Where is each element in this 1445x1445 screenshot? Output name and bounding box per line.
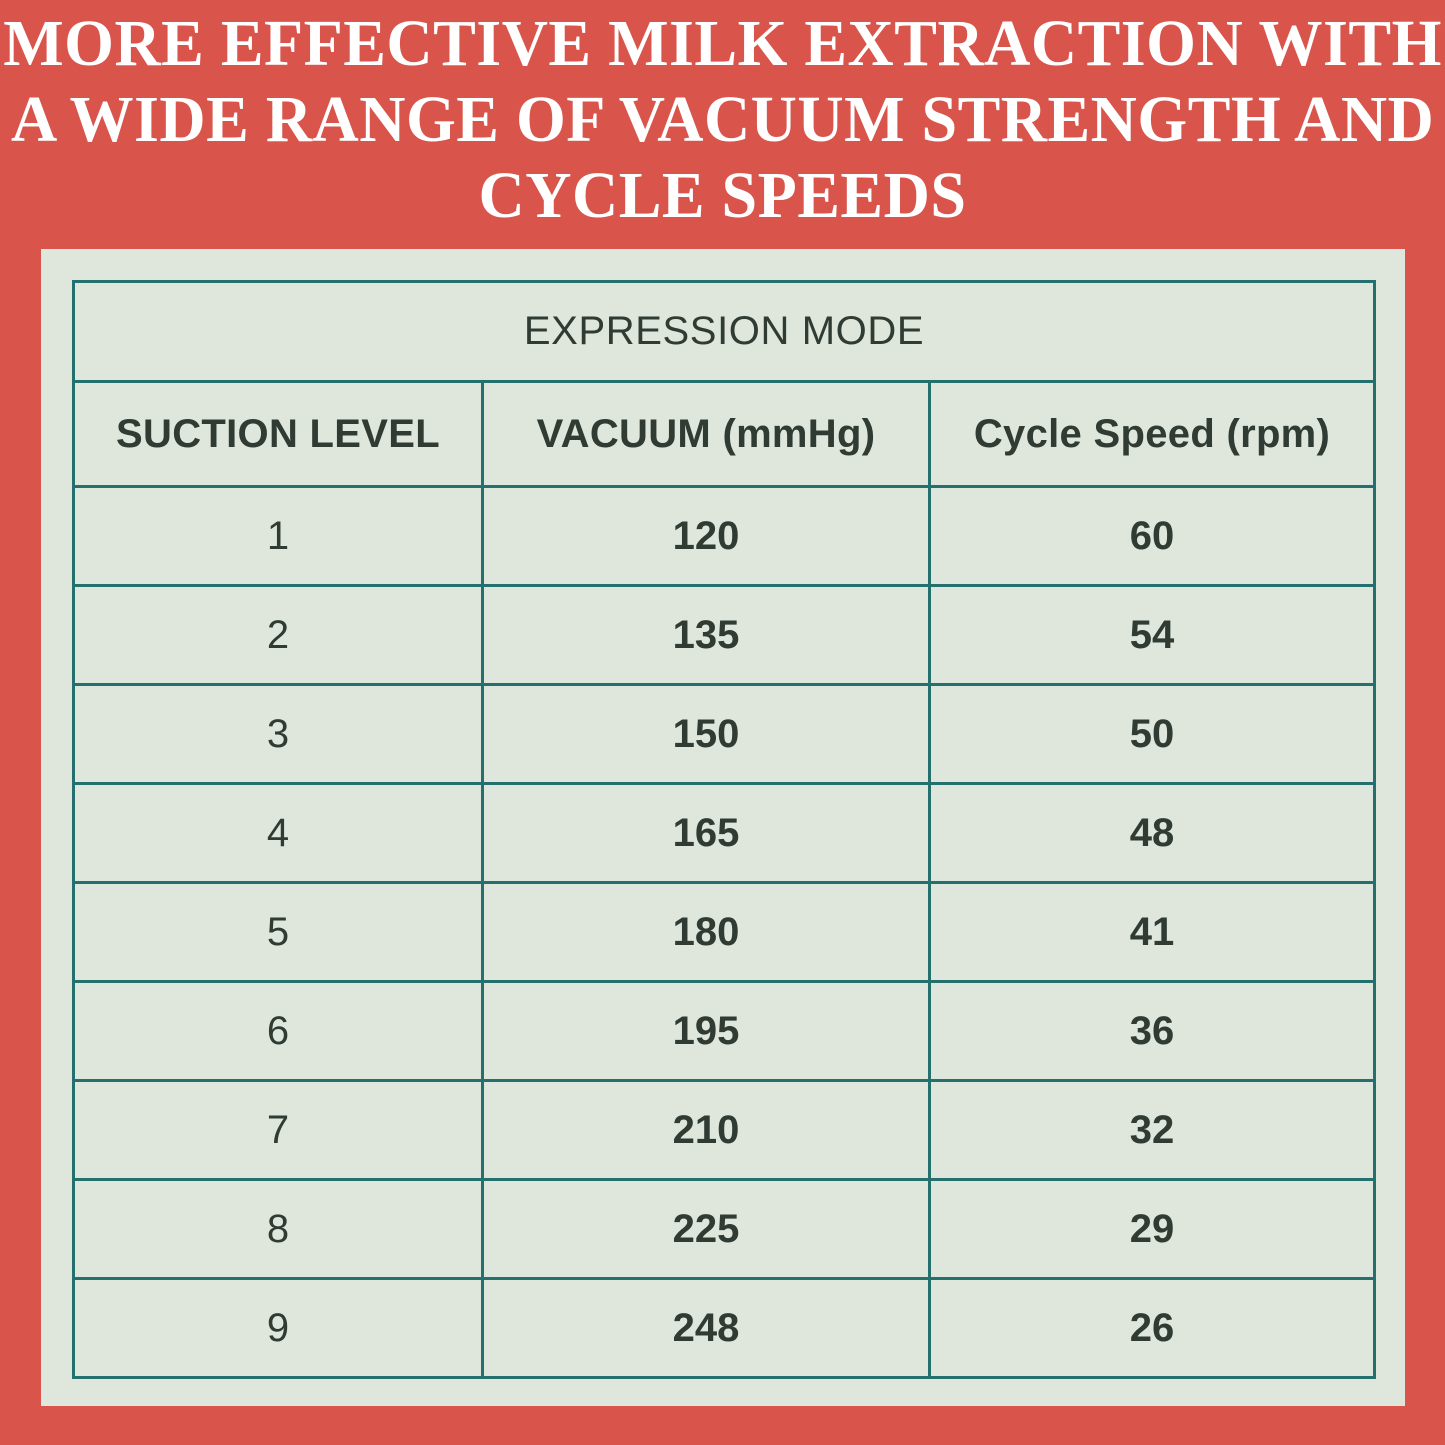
cell-suction-level: 5: [74, 883, 483, 982]
cell-cycle-speed: 36: [930, 982, 1375, 1081]
cell-suction-level: 4: [74, 784, 483, 883]
table-row: 4 165 48: [74, 784, 1375, 883]
cell-cycle-speed: 60: [930, 487, 1375, 586]
title-line-1: MORE EFFECTIVE MILK EXTRACTION WITH: [3, 6, 1442, 82]
table-header-row: SUCTION LEVEL VACUUM (mmHg) Cycle Speed …: [74, 382, 1375, 487]
table-row: 2 135 54: [74, 586, 1375, 685]
title-line-3: CYCLE SPEEDS: [479, 158, 967, 234]
cell-cycle-speed: 48: [930, 784, 1375, 883]
cell-vacuum: 135: [483, 586, 930, 685]
column-header-vacuum: VACUUM (mmHg): [483, 382, 930, 487]
cell-vacuum: 248: [483, 1279, 930, 1378]
table-row: 5 180 41: [74, 883, 1375, 982]
cell-cycle-speed: 50: [930, 685, 1375, 784]
cell-vacuum: 225: [483, 1180, 930, 1279]
poster-root: MORE EFFECTIVE MILK EXTRACTION WITH A WI…: [0, 0, 1445, 1445]
expression-mode-table: EXPRESSION MODE SUCTION LEVEL VACUUM (mm…: [72, 280, 1376, 1379]
cell-vacuum: 195: [483, 982, 930, 1081]
cell-suction-level: 3: [74, 685, 483, 784]
cell-suction-level: 9: [74, 1279, 483, 1378]
cell-vacuum: 150: [483, 685, 930, 784]
cell-vacuum: 180: [483, 883, 930, 982]
cell-vacuum: 165: [483, 784, 930, 883]
table-row: 1 120 60: [74, 487, 1375, 586]
cell-cycle-speed: 32: [930, 1081, 1375, 1180]
title-line-2: A WIDE RANGE OF VACUUM STRENGTH AND: [11, 82, 1434, 158]
cell-cycle-speed: 41: [930, 883, 1375, 982]
cell-suction-level: 2: [74, 586, 483, 685]
table-caption-row: EXPRESSION MODE: [74, 282, 1375, 382]
table-row: 6 195 36: [74, 982, 1375, 1081]
cell-vacuum: 120: [483, 487, 930, 586]
table-panel: EXPRESSION MODE SUCTION LEVEL VACUUM (mm…: [41, 249, 1405, 1406]
table-caption: EXPRESSION MODE: [74, 282, 1375, 382]
cell-cycle-speed: 54: [930, 586, 1375, 685]
cell-suction-level: 6: [74, 982, 483, 1081]
table-row: 8 225 29: [74, 1180, 1375, 1279]
cell-vacuum: 210: [483, 1081, 930, 1180]
cell-suction-level: 8: [74, 1180, 483, 1279]
table-body: 1 120 60 2 135 54 3 150 50 4 165 48: [74, 487, 1375, 1378]
page-title: MORE EFFECTIVE MILK EXTRACTION WITH A WI…: [0, 0, 1445, 238]
cell-suction-level: 7: [74, 1081, 483, 1180]
table-row: 9 248 26: [74, 1279, 1375, 1378]
table-row: 7 210 32: [74, 1081, 1375, 1180]
cell-suction-level: 1: [74, 487, 483, 586]
table-row: 3 150 50: [74, 685, 1375, 784]
cell-cycle-speed: 26: [930, 1279, 1375, 1378]
column-header-cycle-speed: Cycle Speed (rpm): [930, 382, 1375, 487]
cell-cycle-speed: 29: [930, 1180, 1375, 1279]
column-header-suction-level: SUCTION LEVEL: [74, 382, 483, 487]
